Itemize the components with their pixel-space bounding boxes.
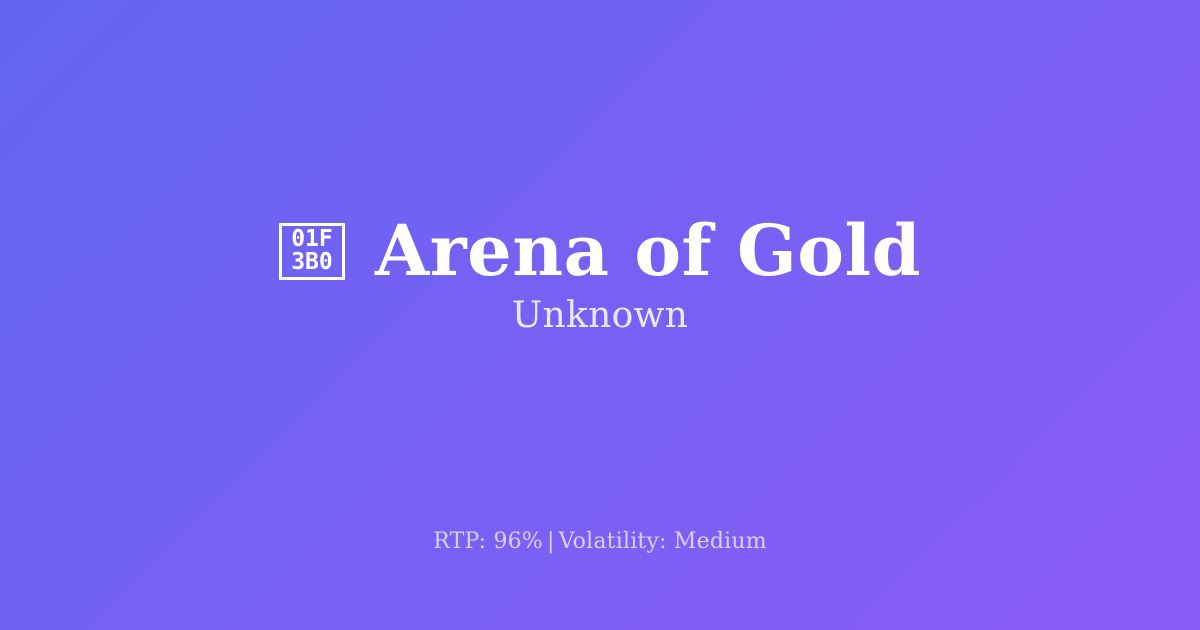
game-preview-card: 01F 3B0 Arena of Gold Unknown RTP: 96%|V… (0, 0, 1200, 630)
game-title: Arena of Gold (375, 212, 921, 290)
rtp-value: RTP: 96% (433, 529, 543, 554)
title-row: 01F 3B0 Arena of Gold (279, 212, 921, 290)
provider-name: Unknown (512, 294, 688, 338)
volatility-value: Volatility: Medium (559, 529, 767, 554)
game-stats: RTP: 96%|Volatility: Medium (0, 528, 1200, 556)
slot-machine-emoji-icon: 01F 3B0 (279, 223, 345, 280)
tofu-codepoint-top: 01F (291, 228, 333, 251)
tofu-codepoint-bottom: 3B0 (291, 251, 333, 274)
stats-separator: | (543, 529, 559, 554)
